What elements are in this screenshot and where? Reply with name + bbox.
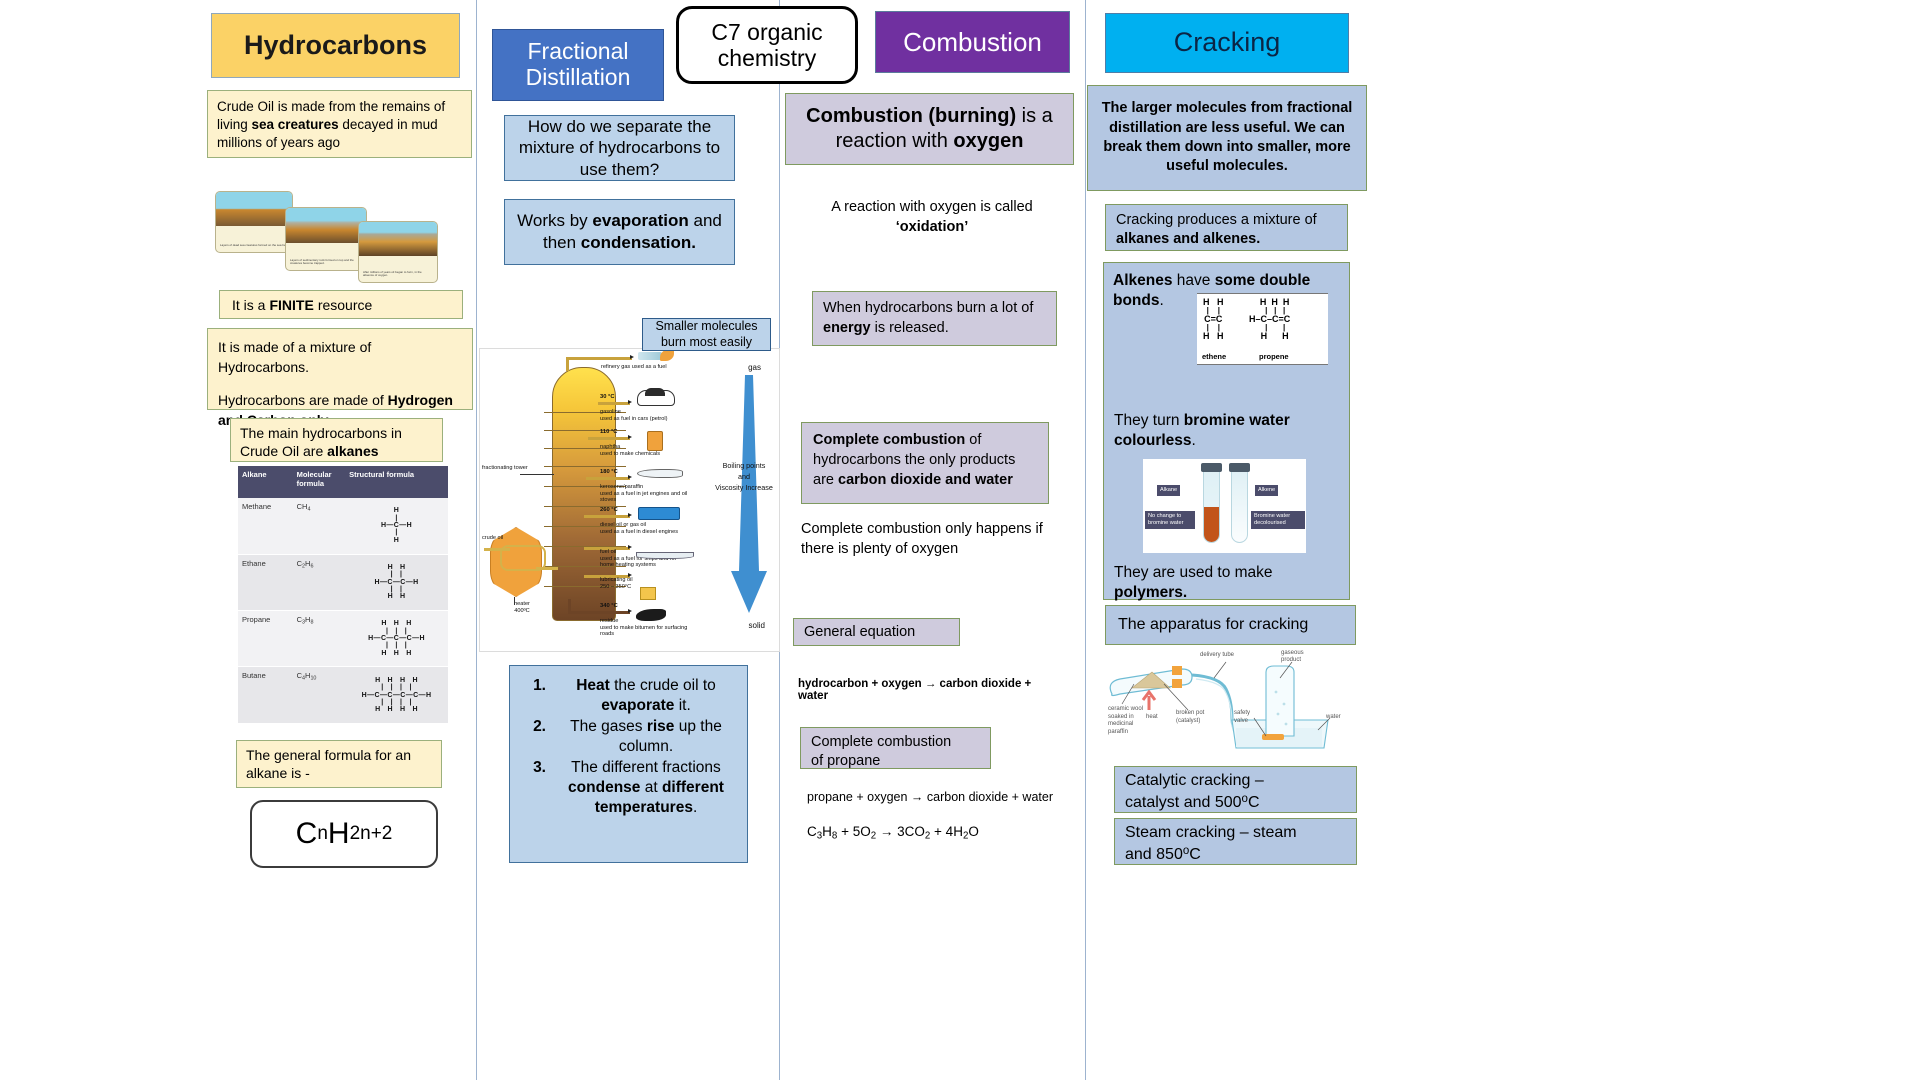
distillation-steps-list: 1. Heat the crude oil to evaporate it. 2… [509, 665, 748, 863]
heater-label: heater400ºC [500, 601, 544, 614]
formation-stage-2: Layers of sedimentary rock formed on top… [285, 207, 367, 271]
list-item: 2. The gases rise up the column. [520, 717, 739, 757]
alkane-name: Propane [238, 610, 293, 666]
general-word-equation: hydrocarbon + oxygen → carbon dioxide + … [798, 678, 1058, 696]
crude-oil-origin-text: Crude Oil is made from the remains of li… [207, 90, 472, 158]
table-row: Butane C4H10 H H H H | | | | H—C—C—C—C—H… [238, 667, 448, 724]
formation-stage-1: Layers of dead sea creatures formed on t… [215, 191, 293, 253]
crude-oil-formation-image: Layers of dead sea creatures formed on t… [215, 185, 435, 277]
tube-label-alkene: Alkene [1255, 485, 1278, 496]
cracking-header: Cracking [1105, 13, 1349, 73]
alkane-col-header-formula: Molecular formula [293, 466, 346, 498]
table-row: Propane C3H8 H H H | | | H—C—C—C—H | | |… [238, 610, 448, 666]
fraction-name: gasoline [600, 409, 621, 415]
poster-main-title: C7 organic chemistry [676, 6, 858, 84]
list-item: 1. Heat the crude oil to evaporate it. [520, 676, 739, 716]
smaller-molecules-note: Smaller molecules burn most easily [642, 318, 771, 351]
fraction-temp: 30 °C [600, 394, 615, 400]
alkane-col-header-structure: Structural formula [345, 466, 448, 498]
molecule-label-ethene: ethene [1202, 352, 1226, 361]
catalytic-cracking-text: Catalytic cracking –catalyst and 500oC [1114, 766, 1357, 813]
formation-caption-2: Layers of sedimentary rock formed on top… [288, 257, 364, 268]
steam-cracking-text: Steam cracking – steamand 850oC [1114, 818, 1357, 865]
complete-combustion-condition: Complete combustion only happens if ther… [801, 520, 1051, 564]
fraction-name: kerosene/paraffin [600, 484, 643, 490]
step-number: 2. [520, 717, 546, 757]
fraction-use: used to make chemicals [600, 451, 660, 457]
step-number: 1. [520, 676, 546, 716]
fraction-use: used as fuel in cars (petrol) [600, 416, 667, 422]
cracking-mixture-text: Cracking produces a mixture of alkanes a… [1105, 204, 1348, 251]
alkane-formula: CH4 [293, 498, 346, 554]
alkane-structure-ethane: H H | | H—C—C—H | | H H [345, 554, 448, 610]
label-safety-valve: safety valve [1234, 710, 1264, 725]
step-text: The different fractions condense at diff… [553, 758, 739, 818]
molecule-label-propene: propene [1259, 352, 1289, 361]
label-broken-pot: broken pot (catalyst) [1176, 710, 1218, 725]
tube-result-alkene: Bromine water decolourised [1251, 511, 1305, 529]
fraction-name: residue [600, 618, 618, 624]
cracking-apparatus-image: delivery tube gaseous product ceramic wo… [1104, 648, 1359, 762]
alkane-formula: C3H8 [293, 610, 346, 666]
alkane-col-header-name: Alkane [238, 466, 293, 498]
crude-oil-label: crude oil [482, 535, 508, 542]
mixture-line-1: It is made of a mixture of Hydrocarbons. [218, 337, 462, 378]
fraction-temp: 260 °C [600, 507, 618, 513]
step-text: Heat the crude oil to evaporate it. [553, 676, 739, 716]
formation-caption-3: After millions of years oil began to for… [361, 269, 435, 280]
list-item: 3. The different fractions condense at d… [520, 758, 739, 818]
general-formula-box: CnH2n+2 [250, 800, 438, 868]
label-heat: heat [1146, 714, 1158, 720]
combustion-energy-box: When hydrocarbons burn a lot of energy i… [812, 291, 1057, 346]
bromine-water-text: They turn bromine water colourless. [1114, 411, 1342, 451]
mixture-text: It is made of a mixture of Hydrocarbons.… [207, 328, 473, 410]
arrow-top-label: gas [748, 363, 761, 373]
propane-combustion-label: Complete combustionof propane [800, 727, 991, 769]
boiling-point-text: Boiling pointsandViscosity Increase [713, 461, 775, 493]
alkane-formula: C4H10 [293, 667, 346, 724]
alkane-table: Alkane Molecular formula Structural form… [238, 466, 448, 724]
table-row: Ethane C2H6 H H | | H—C—C—H | | H H [238, 554, 448, 610]
main-hydrocarbons-text: The main hydrocarbons in Crude Oil are a… [230, 418, 443, 462]
oxidation-note: A reaction with oxygen is called‘oxidati… [793, 198, 1071, 238]
fraction-use: used as a fuel in diesel engines [600, 529, 678, 535]
fraction-temp: 180 °C [600, 469, 618, 475]
fraction-temp-range: 250 – 350°C [600, 584, 631, 590]
fraction-name: fuel oil [600, 549, 616, 555]
works-by-text: Works by evaporation and then condensati… [504, 199, 735, 265]
combustion-definition: Combustion (burning) is a reaction with … [785, 93, 1074, 165]
alkane-formula: C2H6 [293, 554, 346, 610]
fractional-distillation-diagram: refinery gas used as a fuel 30 °C gasoli… [479, 348, 780, 652]
alkane-structure-propane: H H H | | | H—C—C—C—H | | | H H H [345, 610, 448, 666]
general-formula-label: The general formula for an alkane is - [236, 740, 442, 788]
propane-word-equation: propane + oxygen → carbon dioxide + wate… [807, 790, 1067, 808]
fraction-use: used as a fuel in jet engines and oil st… [600, 491, 687, 504]
poster-canvas: C7 organic chemistry Hydrocarbons Crude … [0, 0, 1920, 1080]
fraction-temp: 340 °C [600, 603, 618, 609]
fraction-use: used to make bitumen for surfacing roads [600, 625, 687, 638]
alkene-structures-image: H H | | C=C | | H H ethene H H H | | | H… [1197, 293, 1328, 365]
divider-3 [1085, 0, 1086, 1080]
fraction-name: naphtha [600, 444, 620, 450]
hydrocarbons-header: Hydrocarbons [211, 13, 460, 78]
polymers-text: They are used to make polymers. [1114, 563, 1334, 603]
boiling-point-arrow [731, 375, 767, 613]
finite-resource-text: It is a FINITE resource [219, 290, 463, 319]
arrow-bottom-label: solid [749, 621, 765, 631]
label-delivery-tube: delivery tube [1200, 652, 1234, 658]
alkane-name: Methane [238, 498, 293, 554]
apparatus-label: The apparatus for cracking [1105, 605, 1356, 645]
separation-question: How do we separate the mixture of hydroc… [504, 115, 735, 181]
formation-caption-1: Layers of dead sea creatures formed on t… [218, 242, 290, 250]
step-number: 3. [520, 758, 546, 818]
general-equation-label: General equation [793, 618, 960, 646]
bromine-test-image: Alkane Alkene No change to bromine water… [1143, 459, 1306, 553]
propane-symbol-equation: C3H8 + 5O2 → 3CO2 + 4H2O [807, 824, 1067, 844]
combustion-header: Combustion [875, 11, 1070, 73]
label-ceramic-wool: ceramic wool soaked in medicinal paraffi… [1108, 706, 1144, 736]
fraction-temp: 110 °C [600, 429, 617, 435]
tube-label-alkane: Alkane [1157, 485, 1180, 496]
label-water: water [1326, 714, 1341, 720]
label-gaseous-product: gaseous product [1281, 650, 1317, 664]
formation-stage-3: After millions of years oil began to for… [358, 221, 438, 283]
alkane-structure-butane: H H H H | | | | H—C—C—C—C—H | | | | H H … [345, 667, 448, 724]
fractional-distillation-header: Fractional Distillation [492, 29, 664, 101]
alkane-name: Butane [238, 667, 293, 724]
alkane-structure-methane: H | H—C—H | H [345, 498, 448, 554]
table-row: Methane CH4 H | H—C—H | H [238, 498, 448, 554]
alkane-name: Ethane [238, 554, 293, 610]
divider-1 [476, 0, 477, 1080]
refinery-gas-label: refinery gas used as a fuel [601, 364, 689, 371]
apparatus-svg [1104, 648, 1359, 762]
step-text: The gases rise up the column. [553, 717, 739, 757]
alkenes-panel: Alkenes have some double bonds. H H | | … [1103, 262, 1350, 600]
fraction-name: diesel oil or gas oil [600, 522, 646, 528]
fractionating-tower-label: fractionating tower [482, 465, 528, 472]
tube-result-alkane: No change to bromine water [1145, 511, 1195, 529]
fraction-name: lubricating oil [600, 577, 633, 583]
complete-combustion-box: Complete combustion of hydrocarbons the … [801, 422, 1049, 504]
cracking-intro-text: The larger molecules from fractional dis… [1087, 85, 1367, 191]
